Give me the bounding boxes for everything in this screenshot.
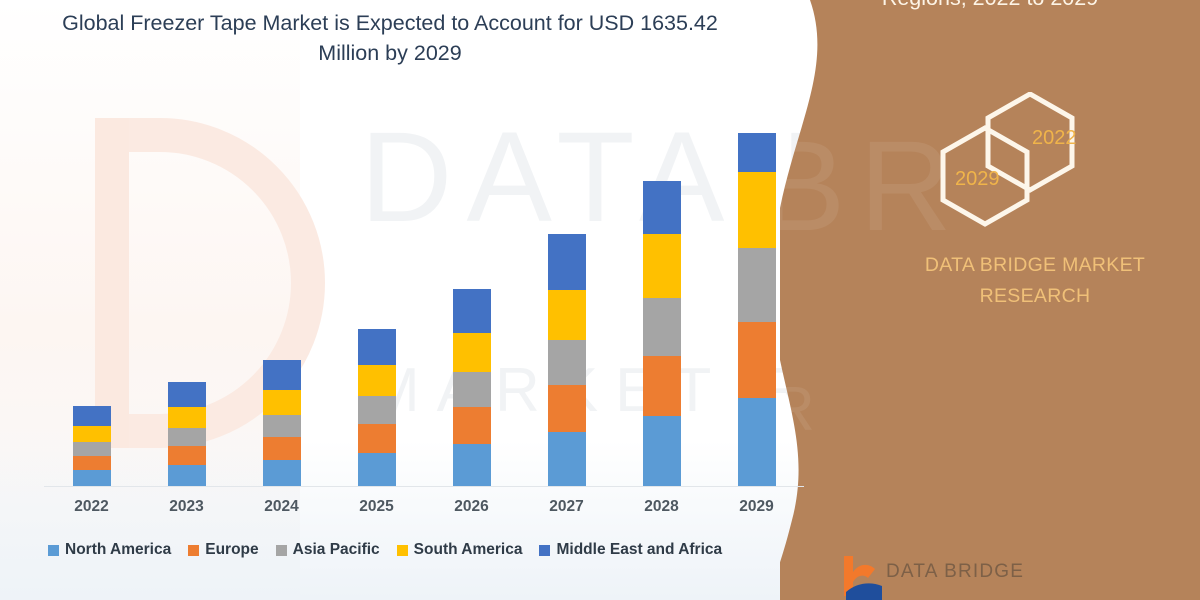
bar-group[interactable] [738,133,776,486]
bar-group[interactable] [73,406,111,486]
bar-segment[interactable] [73,442,111,456]
x-axis-tick-label: 2026 [427,498,517,516]
bar-segment[interactable] [73,470,111,486]
bar-segment[interactable] [73,456,111,470]
x-axis-tick-label: 2024 [237,498,327,516]
legend-label: Europe [205,541,258,559]
bar-segment[interactable] [358,424,396,453]
bar-segment[interactable] [168,407,206,428]
x-axis-tick-label: 2022 [47,498,137,516]
legend-item[interactable]: Asia Pacific [276,541,380,559]
footer-brand-text: DATA BRIDGE [886,561,1024,583]
bar-group[interactable] [263,360,301,486]
bar-group[interactable] [358,329,396,486]
bar-segment[interactable] [548,432,586,486]
bar-segment[interactable] [263,460,301,486]
panel-heading: Regions, 2022 to 2029 [790,0,1190,13]
legend-label: Asia Pacific [293,541,380,559]
legend-item[interactable]: North America [48,541,171,559]
data-bridge-logo-icon [840,552,884,600]
bar-segment[interactable] [738,133,776,172]
bar-segment[interactable] [73,426,111,442]
bar-segment[interactable] [453,444,491,486]
bar-segment[interactable] [453,289,491,333]
legend-swatch-icon [48,545,59,556]
bar-segment[interactable] [738,248,776,321]
hexagon-pair-graphic [935,92,1135,232]
legend-item[interactable]: Middle East and Africa [539,541,722,559]
bar-segment[interactable] [263,390,301,415]
x-axis-labels: 20222023202420252026202720282029 [44,498,804,522]
bar-group[interactable] [168,382,206,486]
x-axis-tick-label: 2023 [142,498,232,516]
bar-segment[interactable] [548,290,586,340]
bar-segment[interactable] [643,416,681,486]
stacked-bar-chart: 20222023202420252026202720282029 North A… [0,0,830,600]
bar-segment[interactable] [263,415,301,437]
x-axis-tick-label: 2029 [712,498,802,516]
bar-segment[interactable] [168,428,206,446]
x-axis-tick-label: 2025 [332,498,422,516]
bar-segment[interactable] [168,382,206,407]
bar-segment[interactable] [358,396,396,424]
legend-label: Middle East and Africa [556,541,722,559]
bar-segment[interactable] [263,437,301,460]
legend-swatch-icon [188,545,199,556]
bar-segment[interactable] [643,356,681,416]
legend-label: South America [414,541,523,559]
x-axis-tick-label: 2027 [522,498,612,516]
infographic-canvas: DATA BRIDGE MARKET RESEARCH BR R Regions… [0,0,1200,600]
hexagon-label-2029: 2029 [955,168,1000,191]
brand-name: DATA BRIDGE MARKET RESEARCH [890,250,1180,312]
bar-segment[interactable] [738,172,776,248]
legend-item[interactable]: Europe [188,541,258,559]
bar-segment[interactable] [73,406,111,426]
bar-segment[interactable] [453,333,491,372]
legend-item[interactable]: South America [397,541,523,559]
chart-legend: North AmericaEuropeAsia PacificSouth Ame… [48,541,722,559]
bar-segment[interactable] [548,385,586,432]
bar-segment[interactable] [548,234,586,289]
bar-segment[interactable] [168,465,206,486]
bar-group[interactable] [643,181,681,486]
bar-segment[interactable] [168,446,206,465]
bar-segment[interactable] [738,322,776,398]
legend-label: North America [65,541,171,559]
bar-segment[interactable] [358,365,396,396]
bar-segment[interactable] [643,298,681,356]
bar-group[interactable] [548,234,586,486]
x-axis-tick-label: 2028 [617,498,707,516]
legend-swatch-icon [276,545,287,556]
x-axis-line [44,486,804,487]
bar-segment[interactable] [358,329,396,365]
bar-segment[interactable] [263,360,301,390]
bar-segment[interactable] [643,234,681,297]
legend-swatch-icon [397,545,408,556]
bar-segment[interactable] [358,453,396,486]
bar-group[interactable] [453,289,491,486]
legend-swatch-icon [539,545,550,556]
bar-segment[interactable] [548,340,586,385]
bar-segment[interactable] [738,398,776,486]
bar-segment[interactable] [453,407,491,444]
bar-segment[interactable] [453,372,491,407]
hexagon-label-2022: 2022 [1032,127,1077,150]
bar-segment[interactable] [643,181,681,234]
bar-series-container [44,100,804,486]
